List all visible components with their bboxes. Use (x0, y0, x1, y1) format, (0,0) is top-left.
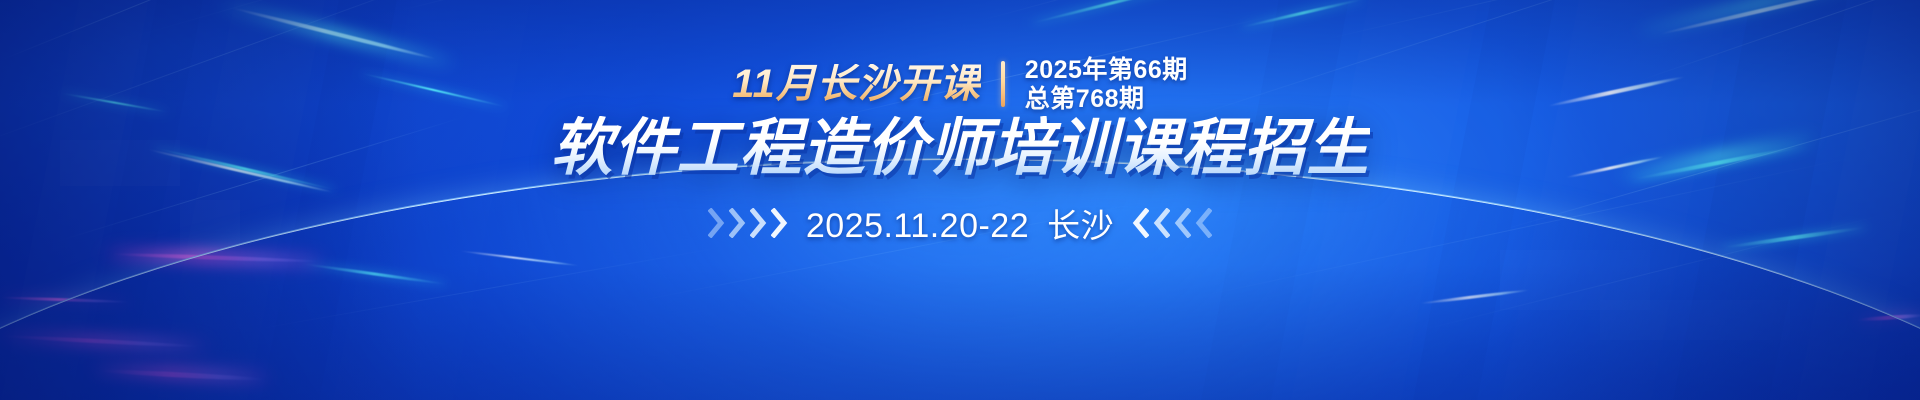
page-title: 软件工程造价师培训课程招生 (550, 116, 1369, 183)
schedule-city: 长沙 (1047, 199, 1114, 247)
kicker-text: 11月长沙开课 (732, 64, 981, 104)
chevrons-left-icon (1130, 208, 1212, 238)
kicker-row: 11月长沙开课 2025年第66期 总第768期 (732, 56, 1187, 112)
issue-line-1: 2025年第66期 (1025, 56, 1188, 84)
promo-banner: 11月长沙开课 2025年第66期 总第768期 软件工程造价师培训课程招生 2… (0, 0, 1920, 400)
vertical-divider-icon (1001, 61, 1005, 107)
banner-content: 11月长沙开课 2025年第66期 总第768期 软件工程造价师培训课程招生 2… (0, 0, 1920, 400)
issue-line-2: 总第768期 (1025, 85, 1188, 113)
schedule-text: 2025.11.20-22 长沙 (806, 199, 1114, 247)
chevrons-right-icon (708, 208, 790, 238)
schedule-date: 2025.11.20-22 (806, 207, 1029, 246)
issue-info: 2025年第66期 总第768期 (1025, 56, 1188, 113)
schedule-row: 2025.11.20-22 长沙 (708, 199, 1212, 247)
